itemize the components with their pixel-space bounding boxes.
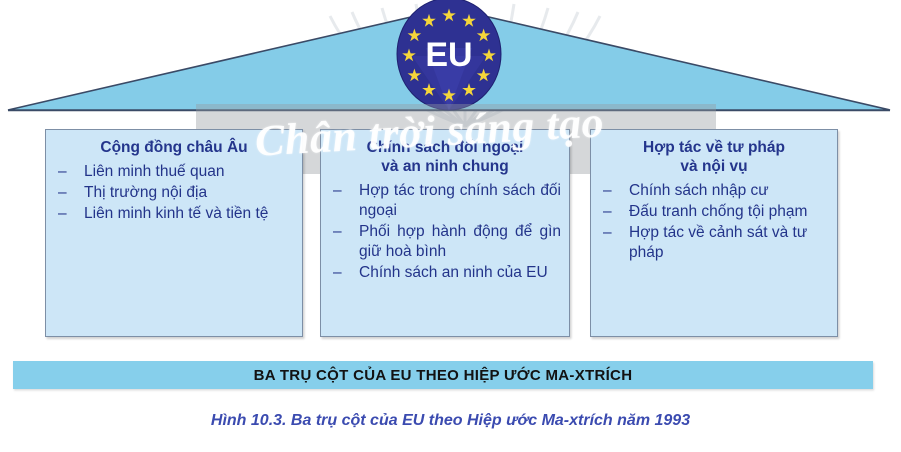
bullet-dash-icon: – — [603, 181, 612, 201]
pillar-2-title-line1: Chính sách đối ngoại — [327, 139, 563, 158]
list-item: –Thị trường nội địa — [52, 183, 294, 203]
pillar-3-title-line1: Hợp tác về tư pháp — [597, 139, 831, 158]
list-item-label: Thị trường nội địa — [84, 184, 207, 201]
list-item: –Chính sách nhập cư — [597, 181, 829, 201]
eu-emblem: EU — [396, 0, 502, 111]
list-item-label: Đấu tranh chống tội phạm — [629, 203, 807, 220]
list-item: –Phối hợp hành động để gìn giữ hoà bình — [327, 222, 561, 262]
bullet-dash-icon: – — [333, 222, 342, 242]
pillar-box-foreign-security-policy: Chính sách đối ngoại và an ninh chung –H… — [320, 129, 570, 337]
bullet-dash-icon: – — [333, 181, 342, 201]
figure-caption: Hình 10.3. Ba trụ cột của EU theo Hiệp ư… — [0, 412, 901, 430]
pillar-3-title-line2: và nội vụ — [597, 158, 831, 177]
diagram-banner-label: BA TRỤ CỘT CỦA EU THEO HIỆP ƯỚC MA-XTRÍC… — [254, 367, 633, 384]
list-item: –Chính sách an ninh của EU — [327, 263, 561, 283]
list-item: –Hợp tác về cảnh sát và tư pháp — [597, 223, 829, 263]
eu-three-pillars-diagram: EU Chân trời sáng tạo Cộng đồng châu Âu … — [0, 0, 901, 452]
bullet-dash-icon: – — [603, 202, 612, 222]
pillar-2-title-line2: và an ninh chung — [327, 158, 563, 177]
eu-emblem-label: EU — [425, 36, 472, 74]
pillar-3-list: –Chính sách nhập cư –Đấu tranh chống tội… — [591, 181, 837, 264]
pillar-2-title: Chính sách đối ngoại và an ninh chung — [327, 139, 563, 177]
list-item-label: Phối hợp hành động để gìn giữ hoà bình — [359, 223, 561, 260]
list-item: –Liên minh kinh tế và tiền tệ — [52, 204, 294, 224]
bullet-dash-icon: – — [58, 183, 67, 203]
pillar-1-title: Cộng đồng châu Âu — [52, 139, 296, 158]
list-item: –Liên minh thuế quan — [52, 162, 294, 182]
list-item-label: Chính sách nhập cư — [629, 182, 769, 199]
pillar-2-list: –Hợp tác trong chính sách đối ngoại –Phố… — [321, 181, 569, 284]
bullet-dash-icon: – — [603, 223, 612, 243]
list-item: –Hợp tác trong chính sách đối ngoại — [327, 181, 561, 221]
pillar-box-justice-home-affairs: Hợp tác về tư pháp và nội vụ –Chính sách… — [590, 129, 838, 337]
list-item-label: Hợp tác về cảnh sát và tư pháp — [629, 224, 807, 261]
list-item-label: Hợp tác trong chính sách đối ngoại — [359, 182, 561, 219]
list-item-label: Liên minh kinh tế và tiền tệ — [84, 205, 268, 222]
bullet-dash-icon: – — [58, 204, 67, 224]
pillar-3-title: Hợp tác về tư pháp và nội vụ — [597, 139, 831, 177]
bullet-dash-icon: – — [333, 263, 342, 283]
pillar-1-list: –Liên minh thuế quan –Thị trường nội địa… — [46, 162, 302, 224]
list-item-label: Chính sách an ninh của EU — [359, 264, 548, 281]
pillar-box-european-community: Cộng đồng châu Âu –Liên minh thuế quan –… — [45, 129, 303, 337]
list-item: –Đấu tranh chống tội phạm — [597, 202, 829, 222]
diagram-banner: BA TRỤ CỘT CỦA EU THEO HIỆP ƯỚC MA-XTRÍC… — [13, 361, 873, 389]
list-item-label: Liên minh thuế quan — [84, 163, 224, 180]
bullet-dash-icon: – — [58, 162, 67, 182]
